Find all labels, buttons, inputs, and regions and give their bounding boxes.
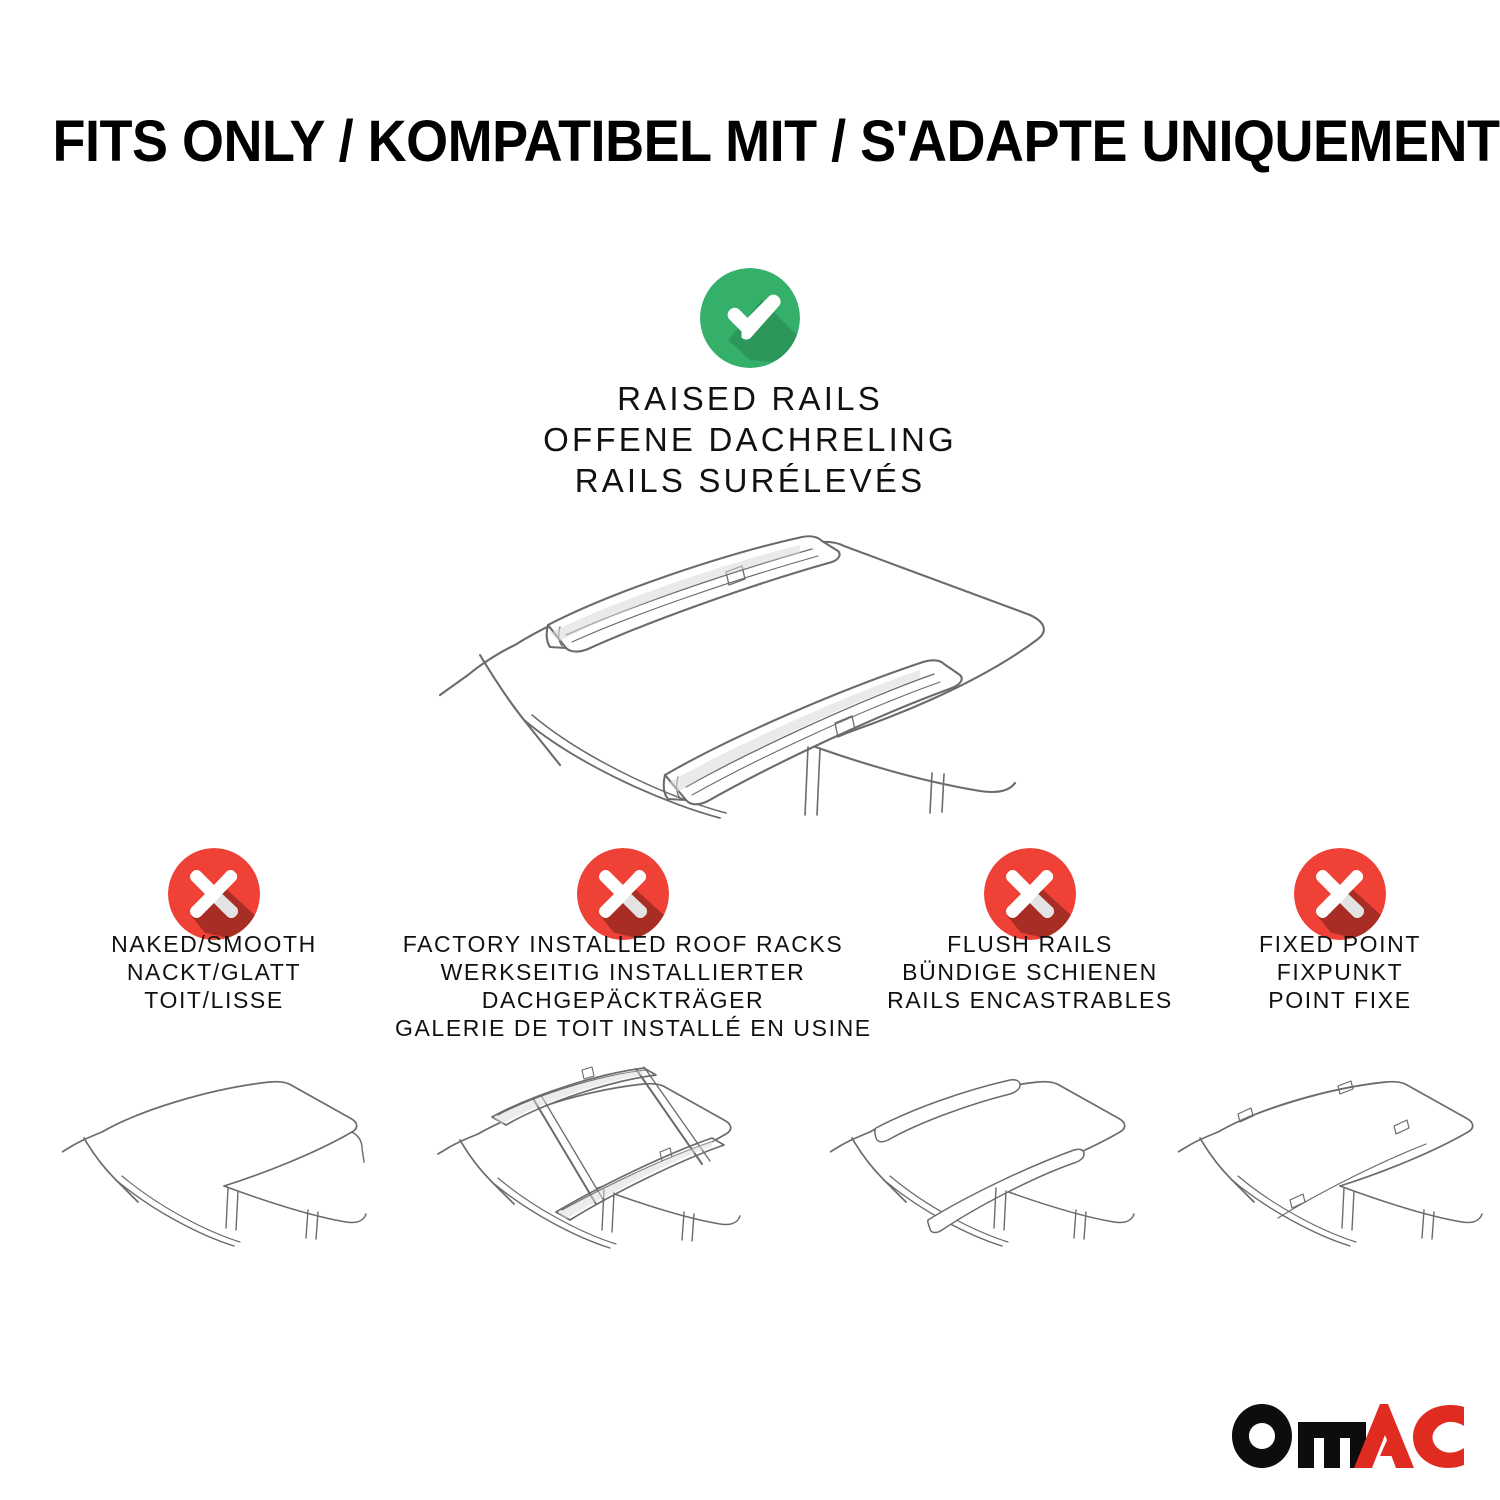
label-line: POINT FIXE (1200, 986, 1480, 1014)
car-roof-raised-rails-illustration (420, 515, 1080, 825)
incompatible-labels-factory-rack: FACTORY INSTALLED ROOF RACKS WERKSEITIG … (395, 930, 851, 1042)
compatible-label-line-3: RAILS SURÉLEVÉS (0, 460, 1500, 501)
label-line: WERKSEITIG INSTALLIERTER (395, 958, 851, 986)
label-line: FACTORY INSTALLED ROOF RACKS (395, 930, 851, 958)
label-line: DACHGEPÄCKTRÄGER (395, 986, 851, 1014)
label-line: TOIT/LISSE (24, 986, 404, 1014)
incompatible-labels-flush-rails: FLUSH RAILS BÜNDIGE SCHIENEN RAILS ENCAS… (845, 930, 1215, 1014)
compatible-label-line-2: OFFENE DACHRELING (0, 419, 1500, 460)
incompatible-item-fixed-point: FIXED POINT FIXPUNKT POINT FIXE (1200, 930, 1480, 1014)
car-roof-flush-rails-illustration (830, 1070, 1160, 1270)
label-line: BÜNDIGE SCHIENEN (845, 958, 1215, 986)
incompatible-item-naked-smooth: NAKED/SMOOTH NACKT/GLATT TOIT/LISSE (24, 930, 404, 1014)
label-line: FIXED POINT (1200, 930, 1480, 958)
car-roof-naked-smooth-illustration (62, 1070, 392, 1270)
car-roof-factory-rack-illustration (430, 1062, 770, 1274)
omac-logo (1232, 1404, 1464, 1468)
red-x-circle-icon (1294, 848, 1386, 940)
fitment-compatibility-infographic: FITS ONLY / KOMPATIBEL MIT / S'ADAPTE UN… (0, 0, 1500, 1500)
label-line: FLUSH RAILS (845, 930, 1215, 958)
red-x-circle-icon (577, 848, 669, 940)
red-x-circle-icon (984, 848, 1076, 940)
incompatible-labels-fixed-point: FIXED POINT FIXPUNKT POINT FIXE (1200, 930, 1480, 1014)
label-line: NACKT/GLATT (24, 958, 404, 986)
label-line: FIXPUNKT (1200, 958, 1480, 986)
label-line: RAILS ENCASTRABLES (845, 986, 1215, 1014)
green-check-circle-icon (700, 268, 800, 368)
label-line: NAKED/SMOOTH (24, 930, 404, 958)
compatible-labels: RAISED RAILS OFFENE DACHRELING RAILS SUR… (0, 378, 1500, 501)
car-roof-fixed-point-illustration (1178, 1070, 1500, 1270)
label-line: GALERIE DE TOIT INSTALLÉ EN USINE (395, 1014, 851, 1042)
red-x-circle-icon (168, 848, 260, 940)
compatible-label-line-1: RAISED RAILS (0, 378, 1500, 419)
incompatible-labels-naked-smooth: NAKED/SMOOTH NACKT/GLATT TOIT/LISSE (24, 930, 404, 1014)
incompatible-item-flush-rails: FLUSH RAILS BÜNDIGE SCHIENEN RAILS ENCAS… (845, 930, 1215, 1014)
incompatible-item-factory-rack: FACTORY INSTALLED ROOF RACKS WERKSEITIG … (395, 930, 851, 1042)
page-title: FITS ONLY / KOMPATIBEL MIT / S'ADAPTE UN… (53, 108, 1448, 175)
